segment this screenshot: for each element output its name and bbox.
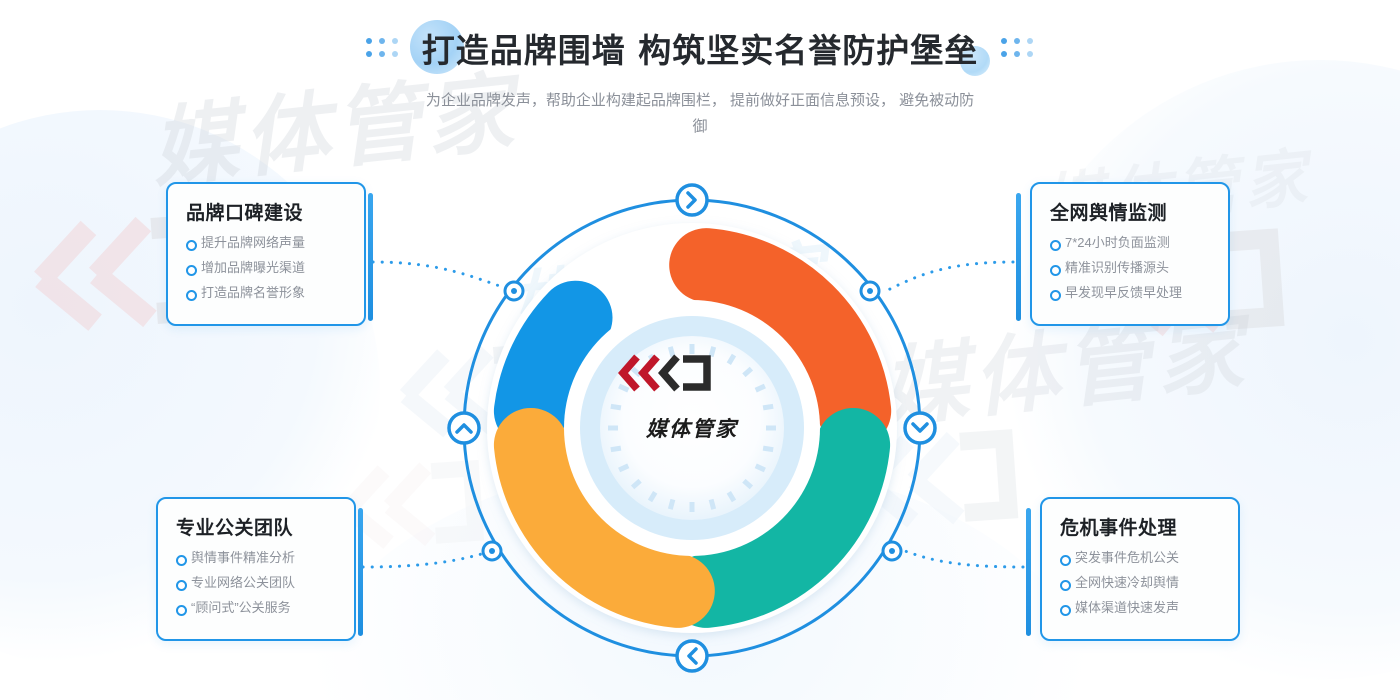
list-item: 突发事件危机公关 [1060,550,1222,566]
card-item-list: 舆情事件精准分析 专业网络公关团队 “顾问式”公关服务 [176,550,338,616]
card-item-list: 提升品牌网络声量 增加品牌曝光渠道 打造品牌名誉形象 [186,235,348,301]
list-item: 全网快速冷却舆情 [1060,575,1222,591]
dot-grid-left-icon [366,38,399,58]
wheel-node-left [449,413,479,443]
list-item: 7*24小时负面监测 [1050,235,1212,251]
wheel-node-right [905,413,935,443]
wheel-node-bottom [677,641,707,671]
list-item: “顾问式”公关服务 [176,600,338,616]
list-item: 增加品牌曝光渠道 [186,260,348,276]
list-item: 媒体渠道快速发声 [1060,600,1222,616]
card-item-list: 7*24小时负面监测 精准识别传播源头 早发现早反馈早处理 [1050,235,1212,301]
card-item-list: 突发事件危机公关 全网快速冷却舆情 媒体渠道快速发声 [1060,550,1222,616]
center-logo-text: 媒体管家 [646,413,738,443]
card-title: 品牌口碑建设 [186,198,348,225]
card-title: 危机事件处理 [1060,513,1222,540]
center-wheel: 媒体管家 [420,178,980,678]
card-pr-team[interactable]: 专业公关团队 舆情事件精准分析 专业网络公关团队 “顾问式”公关服务 [156,497,356,641]
list-item: 舆情事件精准分析 [176,550,338,566]
page-subtitle: 为企业品牌发声，帮助企业构建起品牌围栏， 提前做好正面信息预设， 避免被动防御 [420,88,980,140]
list-item: 提升品牌网络声量 [186,235,348,251]
card-public-opinion-monitoring[interactable]: 全网舆情监测 7*24小时负面监测 精准识别传播源头 早发现早反馈早处理 [1030,182,1230,326]
page-title: 打造品牌围墙 构筑坚实名誉防护堡垒 [422,24,979,72]
double-chevron-logo-icon [617,353,715,393]
accent-bar-public-opinion-monitoring [1016,193,1021,321]
card-title: 专业公关团队 [176,513,338,540]
dot-grid-right-icon [1001,38,1034,58]
page-header: 打造品牌围墙 构筑坚实名誉防护堡垒 为企业品牌发声，帮助企业构建起品牌围栏， 提… [0,0,1400,140]
accent-bar-crisis-handling [1026,508,1031,636]
center-logo: 媒体管家 [617,353,767,503]
list-item: 专业网络公关团队 [176,575,338,591]
title-row: 打造品牌围墙 构筑坚实名誉防护堡垒 [366,24,1035,72]
accent-bar-brand-reputation [368,193,373,321]
card-crisis-handling[interactable]: 危机事件处理 突发事件危机公关 全网快速冷却舆情 媒体渠道快速发声 [1040,497,1240,641]
wheel-node-top [677,185,707,215]
list-item: 早发现早反馈早处理 [1050,285,1212,301]
list-item: 精准识别传播源头 [1050,260,1212,276]
accent-bar-pr-team [358,508,363,636]
card-title: 全网舆情监测 [1050,198,1212,225]
list-item: 打造品牌名誉形象 [186,285,348,301]
card-brand-reputation[interactable]: 品牌口碑建设 提升品牌网络声量 增加品牌曝光渠道 打造品牌名誉形象 [166,182,366,326]
